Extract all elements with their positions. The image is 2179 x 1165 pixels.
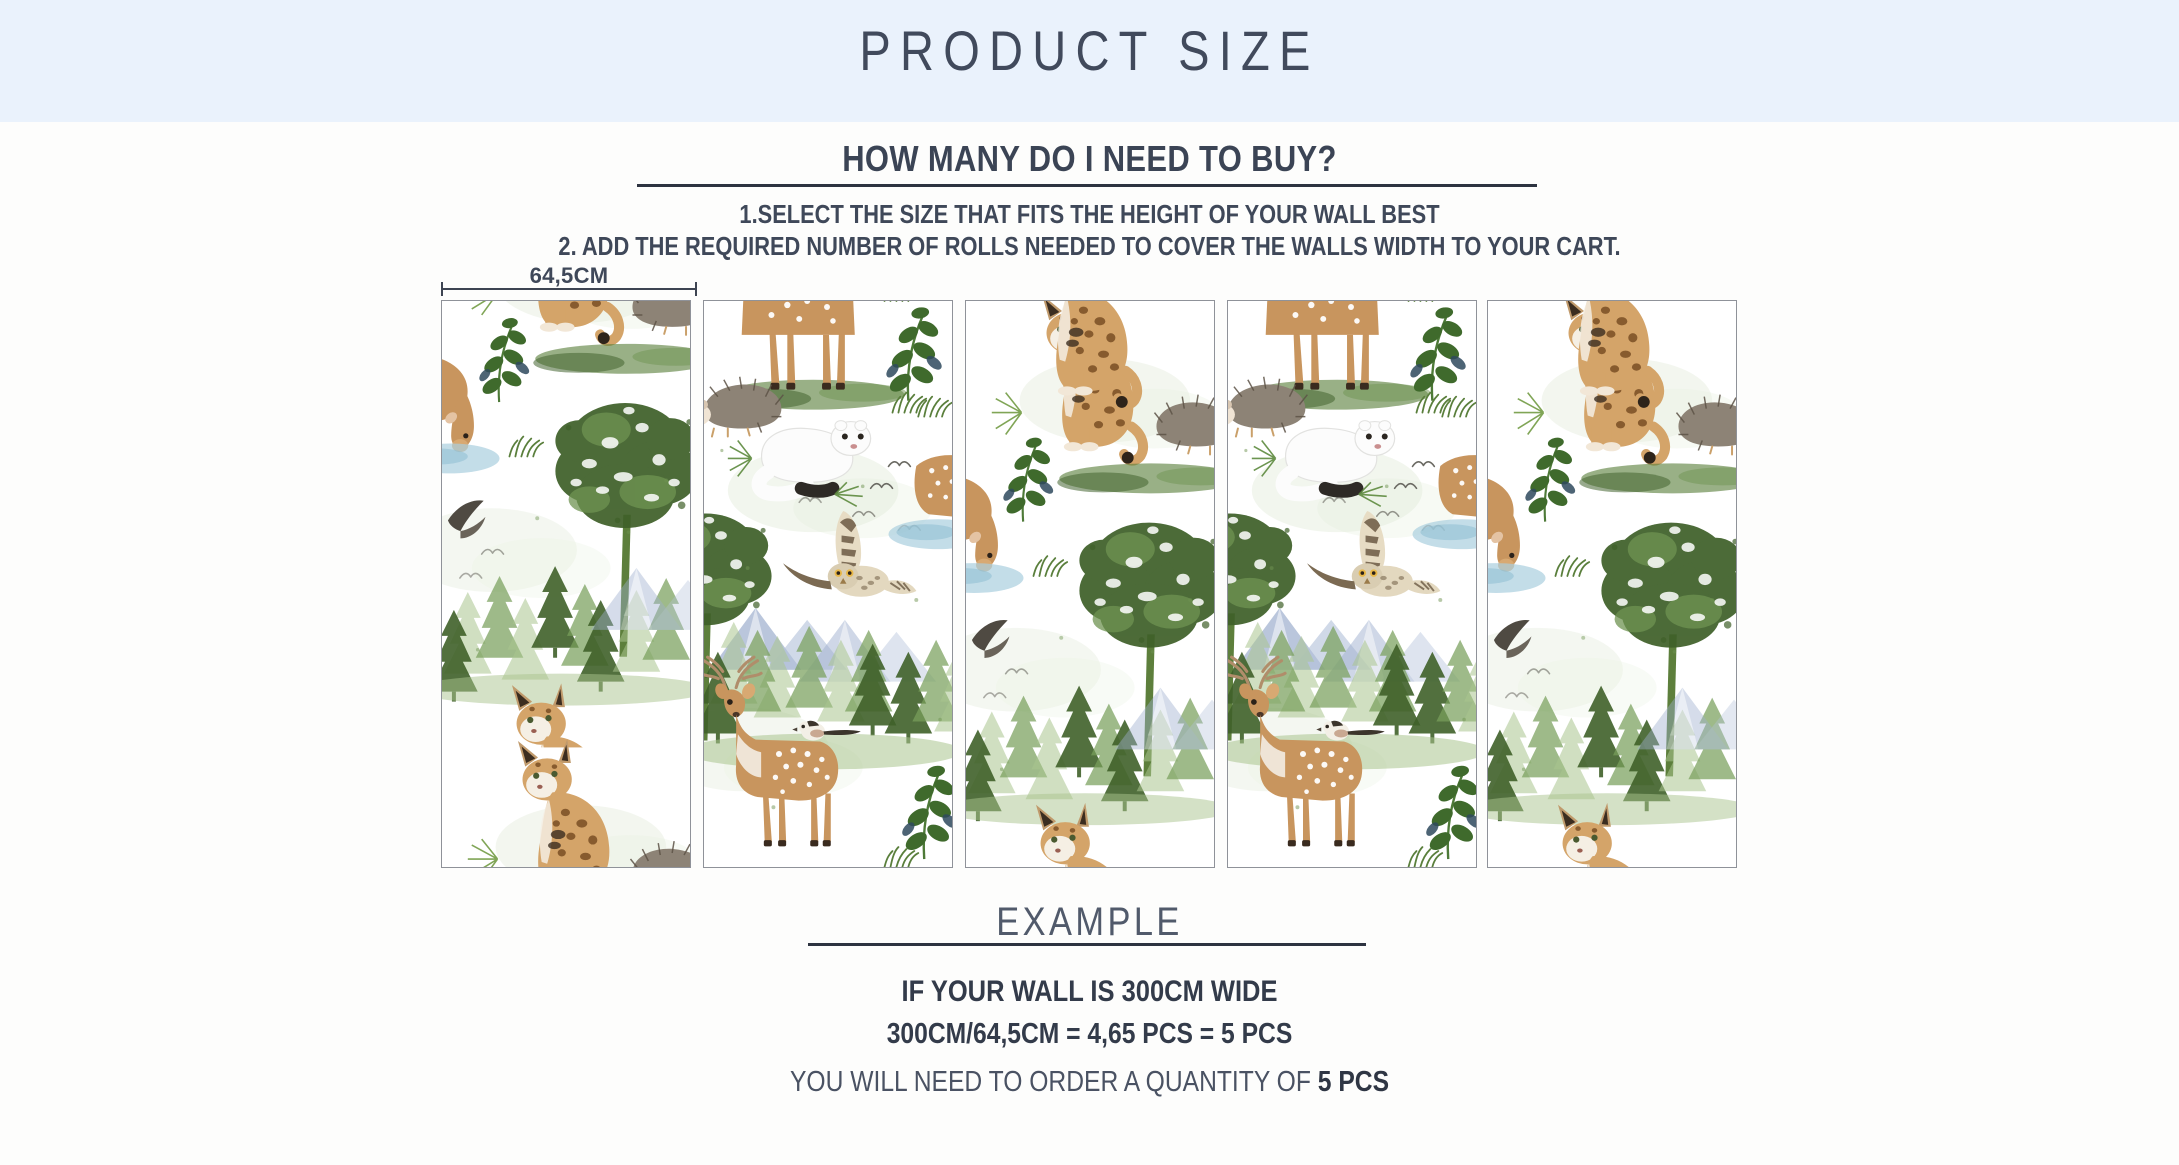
dimension-tick-right	[695, 282, 697, 296]
wallpaper-pattern-roll-2	[704, 301, 952, 867]
example-wall-width: IF YOUR WALL IS 300CM WIDE	[163, 975, 2015, 1009]
dimension-bar	[441, 288, 697, 290]
product-size-banner: PRODUCT SIZE	[0, 0, 2179, 122]
order-quantity-value: 5 PCS	[1318, 1066, 1389, 1098]
wallpaper-panel-row	[441, 300, 1737, 868]
example-divider	[808, 943, 1366, 946]
page-title: PRODUCT SIZE	[174, 18, 2004, 83]
wallpaper-panel[interactable]	[703, 300, 953, 868]
instructions-divider	[637, 184, 1537, 187]
wallpaper-panel[interactable]	[1487, 300, 1737, 868]
instruction-step-2: 2. ADD THE REQUIRED NUMBER OF ROLLS NEED…	[174, 231, 2004, 262]
wallpaper-pattern-roll-5	[1488, 301, 1736, 867]
example-calculation: 300CM/64,5CM = 4,65 PCS = 5 PCS	[163, 1018, 2015, 1051]
instructions-heading: HOW MANY DO I NEED TO BUY?	[153, 138, 2027, 180]
wallpaper-panel[interactable]	[965, 300, 1215, 868]
order-quantity-prefix: YOU WILL NEED TO ORDER A QUANTITY OF	[790, 1066, 1318, 1098]
wallpaper-panel[interactable]	[441, 300, 691, 868]
wallpaper-panel[interactable]	[1227, 300, 1477, 868]
example-heading: EXAMPLE	[153, 900, 2027, 945]
example-order-quantity: YOU WILL NEED TO ORDER A QUANTITY OF 5 P…	[163, 1066, 2015, 1099]
roll-width-dimension-line	[441, 282, 697, 296]
wallpaper-pattern-roll-4	[1228, 301, 1476, 867]
instruction-step-1: 1.SELECT THE SIZE THAT FITS THE HEIGHT O…	[174, 199, 2004, 230]
wallpaper-pattern-roll-3	[966, 301, 1214, 867]
wallpaper-pattern-roll-1	[442, 301, 690, 867]
